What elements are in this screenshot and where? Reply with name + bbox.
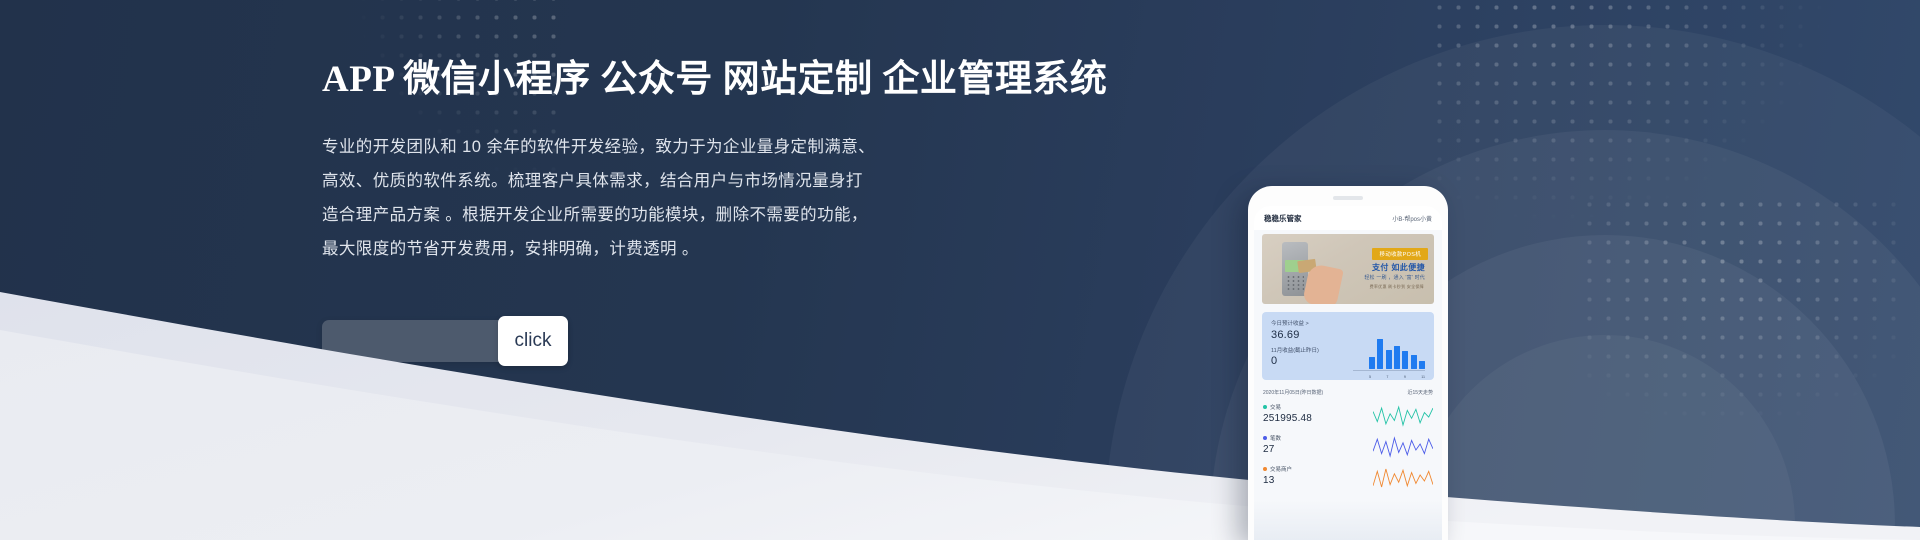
cta-bar[interactable]: click <box>322 320 567 362</box>
mini-bar <box>1386 350 1392 370</box>
pos-keypad-icon <box>1286 275 1304 292</box>
phone-mockup: 稳稳乐管家 小B-帮pos小黄 移动收款POS机 支付 如此便捷 轻松 一刷 ，… <box>1248 186 1448 540</box>
mini-bar <box>1377 339 1383 369</box>
app-brand-label: 稳稳乐管家 <box>1264 213 1302 224</box>
stats-trend-label: 近15天走势 <box>1407 389 1433 396</box>
stat-row-label: 交易 <box>1270 403 1281 411</box>
app-header: 稳稳乐管家 小B-帮pos小黄 <box>1254 206 1442 230</box>
sparkline-chart <box>1373 434 1433 458</box>
app-promo-banner[interactable]: 移动收款POS机 支付 如此便捷 轻松 一刷 ，通入 '富' 时代 费率优惠 刷… <box>1262 234 1434 304</box>
mini-bar-tick: 11 <box>1421 375 1425 379</box>
mini-chart-axis <box>1353 370 1425 371</box>
today-earnings-label: 今日预计收益 > <box>1271 319 1425 327</box>
mini-bar-tick: 7 <box>1386 375 1388 379</box>
stat-row[interactable]: 交易商户13 <box>1263 465 1433 489</box>
wave-front <box>0 330 1920 540</box>
hero-description: 专业的开发团队和 10 余年的软件开发经验，致力于为企业量身定制满意、 高效、优… <box>322 130 1082 266</box>
mini-bar <box>1369 357 1375 369</box>
banner-subtitle: 轻松 一刷 ，通入 '富' 时代 <box>1364 274 1425 281</box>
hero-copy: APP 微信小程序 公众号 网站定制 企业管理系统 专业的开发团队和 10 余年… <box>322 58 1082 266</box>
stat-row-name: 交易商户 <box>1263 465 1292 473</box>
cta-input[interactable] <box>322 320 497 362</box>
hero-banner: APP 微信小程序 公众号 网站定制 企业管理系统 专业的开发团队和 10 余年… <box>0 0 1920 540</box>
stat-row[interactable]: 笔数27 <box>1263 434 1433 458</box>
mini-bar-chart <box>1369 339 1425 369</box>
app-user-label: 小B-帮pos小黄 <box>1392 214 1432 223</box>
stat-row-label: 交易商户 <box>1270 465 1292 473</box>
sparkline-chart <box>1373 465 1433 489</box>
hero-description-line: 专业的开发团队和 10 余年的软件开发经验，致力于为企业量身定制满意、 <box>322 130 1082 164</box>
stats-date-label: 2020年11月05日(昨日数据) <box>1263 389 1323 396</box>
status-dot-icon <box>1263 467 1267 471</box>
banner-pill-label: 移动收款POS机 <box>1372 248 1428 260</box>
stat-row-value: 251995.48 <box>1263 413 1312 424</box>
mini-bar <box>1411 355 1417 369</box>
dot-pattern-left <box>0 290 270 530</box>
phone-speaker <box>1333 196 1363 200</box>
dot-pattern-right-top <box>1430 0 1850 290</box>
decorative-arc-1 <box>1105 25 1920 540</box>
phone-screen: 稳稳乐管家 小B-帮pos小黄 移动收款POS机 支付 如此便捷 轻松 一刷 ，… <box>1254 206 1442 540</box>
screen-fade-overlay <box>1254 500 1442 540</box>
hero-description-line: 最大限度的节省开发费用，安排明确，计费透明 。 <box>322 232 1082 266</box>
stats-list-header: 2020年11月05日(昨日数据) 近15天走势 <box>1263 389 1433 396</box>
page-title: APP 微信小程序 公众号 网站定制 企业管理系统 <box>322 58 1082 102</box>
status-dot-icon <box>1263 405 1267 409</box>
mini-bar-tick: 9 <box>1404 375 1406 379</box>
stats-list: 交易251995.48笔数27交易商户13 <box>1254 403 1442 489</box>
stat-row-name: 笔数 <box>1263 434 1281 442</box>
stat-row-label: 笔数 <box>1270 434 1281 442</box>
banner-tags: 费率优惠 刷卡秒到 安全保障 <box>1370 284 1424 290</box>
click-button[interactable]: click <box>498 316 568 366</box>
banner-headline: 支付 如此便捷 <box>1372 262 1425 273</box>
hero-description-line: 高效、优质的软件系统。梳理客户具体需求，结合用户与市场情况量身打 <box>322 164 1082 198</box>
hero-description-line: 造合理产品方案 。根据开发企业所需要的功能模块，删除不需要的功能， <box>322 198 1082 232</box>
mini-bar-tick: 5 <box>1369 375 1371 379</box>
mini-bar <box>1419 361 1425 369</box>
sparkline-chart <box>1373 403 1433 427</box>
wave-back <box>0 292 1920 540</box>
status-dot-icon <box>1263 436 1267 440</box>
mini-bar <box>1394 346 1400 369</box>
dot-pattern-right-bottom <box>1580 195 1910 425</box>
earnings-card[interactable]: 今日预计收益 > 36.69 11月收益(截止昨日) 0 57911 <box>1262 312 1434 380</box>
mini-bar-chart-ticks: 57911 <box>1369 375 1425 379</box>
stat-row-name: 交易 <box>1263 403 1312 411</box>
stat-row[interactable]: 交易251995.48 <box>1263 403 1433 427</box>
stat-row-value: 13 <box>1263 475 1292 486</box>
stat-row-value: 27 <box>1263 444 1281 455</box>
mini-bar <box>1402 351 1408 369</box>
decorative-arc-4 <box>1415 335 1795 540</box>
